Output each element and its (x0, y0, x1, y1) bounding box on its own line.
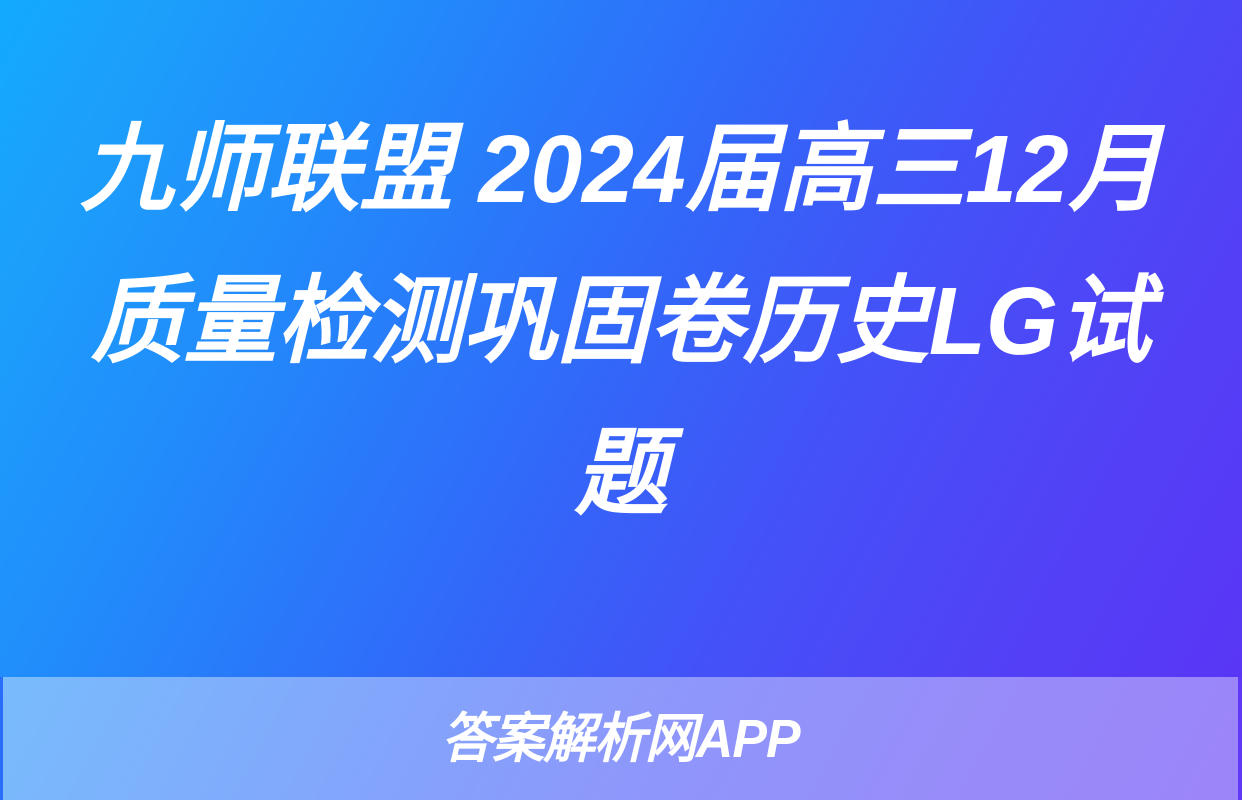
page-title: 九师联盟 2024届高三12月质量检测巩固卷历史LG试题 (75, 94, 1167, 584)
watermark-text: 答案解析网APP (442, 709, 800, 769)
band-right-edge (1238, 677, 1242, 800)
hero-title-block: 九师联盟 2024届高三12月质量检测巩固卷历史LG试题 (0, 0, 1242, 677)
cover-page: 九师联盟 2024届高三12月质量检测巩固卷历史LG试题 答案解析网APP (0, 0, 1242, 800)
band-left-edge (0, 677, 3, 800)
watermark-band: 答案解析网APP (0, 677, 1242, 800)
